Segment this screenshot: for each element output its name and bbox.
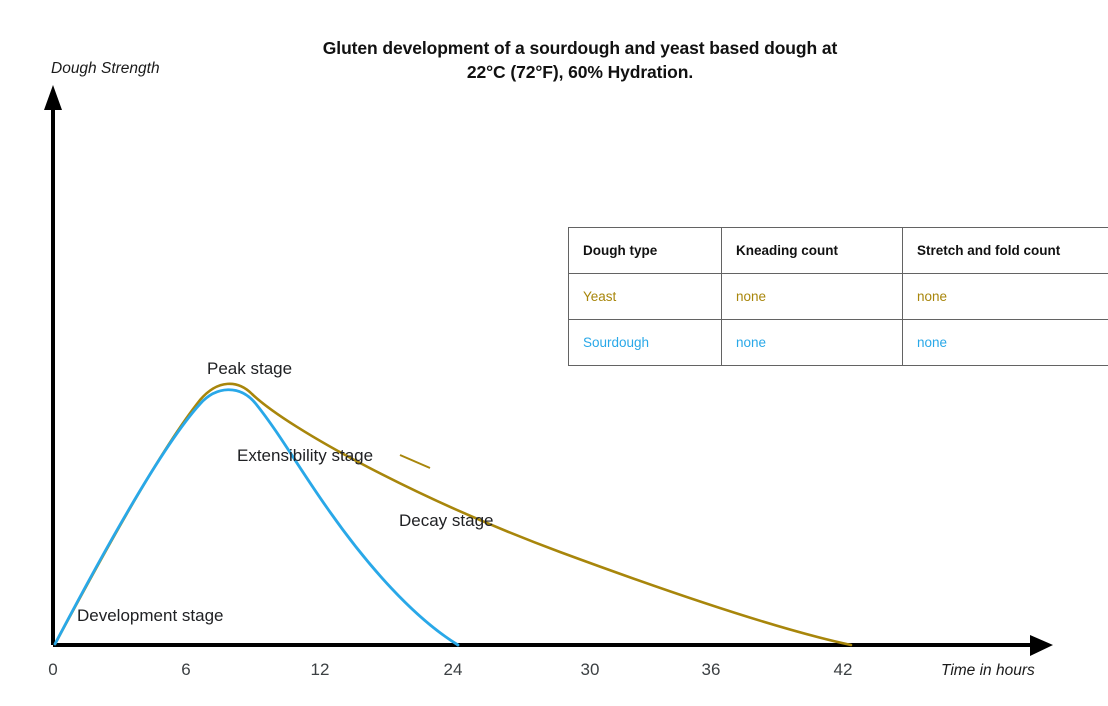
cell-sourdough-kneading: none: [722, 320, 903, 366]
x-axis-label: Time in hours: [941, 662, 1035, 680]
annotation-decay-stage: Decay stage: [399, 511, 494, 531]
cell-yeast-dough-type: Yeast: [569, 274, 722, 320]
y-axis-arrow-icon: [44, 85, 62, 110]
table-header-kneading: Kneading count: [722, 228, 903, 274]
table-header-row: Dough type Kneading count Stretch and fo…: [569, 228, 1108, 274]
table-row: Yeast none none: [569, 274, 1108, 320]
dough-comparison-table: Dough type Kneading count Stretch and fo…: [568, 227, 1108, 366]
table-row: Sourdough none none: [569, 320, 1108, 366]
x-axis-arrow-icon: [1030, 635, 1053, 656]
x-tick-42: 42: [813, 660, 873, 680]
annotation-development-stage: Development stage: [77, 606, 223, 626]
x-tick-24: 24: [423, 660, 483, 680]
x-tick-30: 30: [560, 660, 620, 680]
annotation-extensibility-stage: Extensibility stage: [237, 446, 373, 466]
x-tick-0: 0: [23, 660, 83, 680]
chart-canvas: Gluten development of a sourdough and ye…: [0, 0, 1108, 706]
cell-yeast-stretchfold: none: [903, 274, 1108, 320]
table-header-dough-type: Dough type: [569, 228, 722, 274]
x-tick-6: 6: [156, 660, 216, 680]
cell-sourdough-stretchfold: none: [903, 320, 1108, 366]
cell-sourdough-dough-type: Sourdough: [569, 320, 722, 366]
x-tick-36: 36: [681, 660, 741, 680]
extensibility-leader-line: [400, 455, 430, 468]
x-tick-12: 12: [290, 660, 350, 680]
y-axis-label: Dough Strength: [51, 60, 160, 78]
annotation-peak-stage: Peak stage: [207, 359, 292, 379]
table-header-stretchfold: Stretch and fold count: [903, 228, 1108, 274]
cell-yeast-kneading: none: [722, 274, 903, 320]
